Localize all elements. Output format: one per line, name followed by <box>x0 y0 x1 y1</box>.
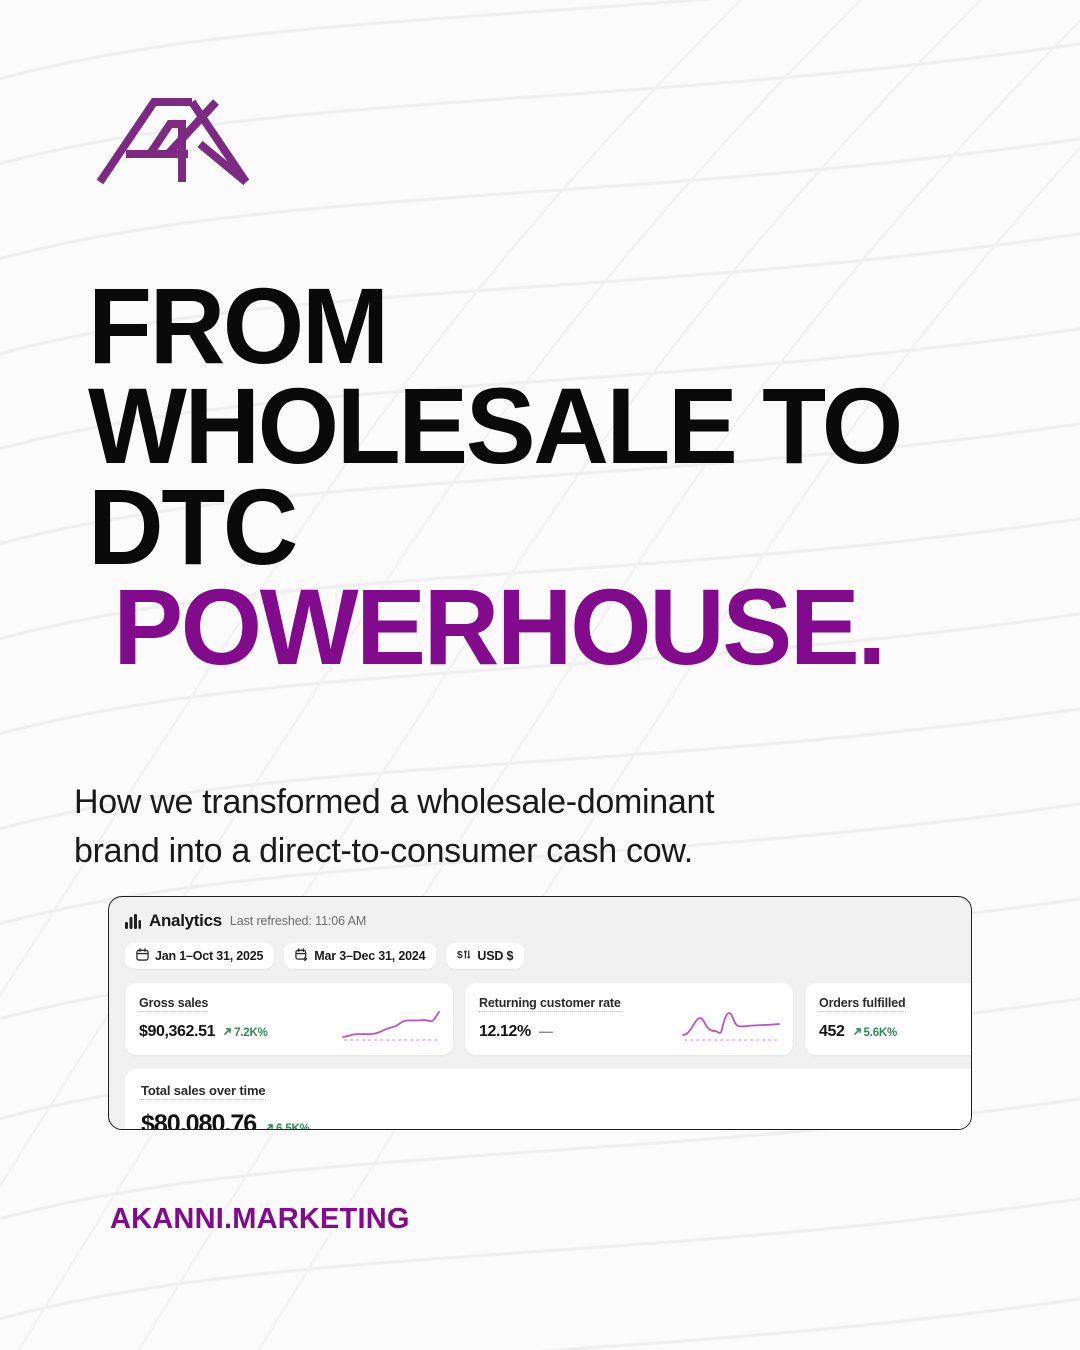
date-range-filter[interactable]: Jan 1–Oct 31, 2025 <box>125 943 274 969</box>
metric-delta-value: 5.6K% <box>864 1027 898 1039</box>
metric-label: Gross sales <box>139 996 208 1012</box>
dashboard-filter-bar: Jan 1–Oct 31, 2025 Mar 3–Dec 31, 2024 <box>109 931 971 969</box>
headline-line-4-accent: POWERHOUSE. <box>88 577 980 677</box>
trend-up-icon <box>265 1123 274 1130</box>
metric-label: Orders fulfilled <box>819 996 906 1012</box>
total-sales-value: $80,080.76 <box>141 1110 256 1130</box>
subheading: How we transformed a wholesale-dominant … <box>74 778 974 876</box>
metric-card-orders-fulfilled[interactable]: Orders fulfilled 452 5.6K% <box>805 983 972 1055</box>
total-sales-over-time-card[interactable]: Total sales over time $80,080.76 6.5K% <box>125 1069 971 1130</box>
compare-date-filter[interactable]: Mar 3–Dec 31, 2024 <box>284 943 436 969</box>
metric-card-returning-customer-rate[interactable]: Returning customer rate 12.12% — <box>465 983 793 1055</box>
brand-handle: AKANNI.MARKETING <box>110 1203 410 1236</box>
currency-filter[interactable]: $ USD $ <box>446 943 524 969</box>
poster-canvas: FROM WHOLESALE TO DTC POWERHOUSE. How we… <box>0 0 1080 1350</box>
trend-up-icon <box>853 1027 862 1039</box>
metric-value-row: 452 5.6K% <box>819 1023 972 1041</box>
dashboard-title: Analytics <box>149 911 222 931</box>
metric-delta-up: 5.6K% <box>853 1027 898 1039</box>
subheading-line-2: brand into a direct-to-consumer cash cow… <box>74 827 974 876</box>
metric-delta-flat: — <box>539 1023 553 1039</box>
sparkline-gross-sales <box>341 1009 441 1043</box>
metric-delta-up: 7.2K% <box>223 1027 268 1039</box>
total-sales-delta-value: 6.5K% <box>276 1123 310 1130</box>
metric-value: 452 <box>819 1023 845 1041</box>
last-refreshed-label: Last refreshed: 11:06 AM <box>230 914 366 928</box>
headline-line-1: FROM <box>88 276 980 376</box>
metric-value: 12.12% <box>479 1023 531 1041</box>
total-sales-value-row: $80,080.76 6.5K% <box>141 1110 955 1130</box>
headline-line-3: DTC <box>88 477 980 577</box>
ak-logo <box>96 96 256 186</box>
analytics-dashboard-screenshot: Analytics Last refreshed: 11:06 AM Jan 1… <box>108 896 972 1130</box>
compare-dates-icon <box>295 948 308 964</box>
metric-cards-row: Gross sales $90,362.51 7.2K% <box>109 969 971 1055</box>
total-sales-label: Total sales over time <box>141 1083 266 1100</box>
bar-chart-icon <box>125 914 141 929</box>
total-sales-delta-up: 6.5K% <box>265 1123 310 1130</box>
sparkline-returning-customer-rate <box>681 1009 781 1043</box>
headline-line-2: WHOLESALE TO <box>88 376 980 476</box>
trend-up-icon <box>223 1027 232 1039</box>
currency-swap-icon: $ <box>457 948 471 964</box>
svg-text:$: $ <box>457 950 463 961</box>
calendar-icon <box>136 948 149 964</box>
currency-label: USD $ <box>477 949 513 963</box>
metric-label: Returning customer rate <box>479 996 621 1012</box>
date-range-label: Jan 1–Oct 31, 2025 <box>155 949 263 963</box>
metric-card-gross-sales[interactable]: Gross sales $90,362.51 7.2K% <box>125 983 453 1055</box>
headline: FROM WHOLESALE TO DTC POWERHOUSE. <box>88 276 1008 678</box>
compare-date-label: Mar 3–Dec 31, 2024 <box>314 949 425 963</box>
metric-delta-value: 7.2K% <box>234 1027 268 1039</box>
dashboard-header: Analytics Last refreshed: 11:06 AM <box>109 897 971 931</box>
metric-value: $90,362.51 <box>139 1023 215 1041</box>
subheading-line-1: How we transformed a wholesale-dominant <box>74 778 974 827</box>
